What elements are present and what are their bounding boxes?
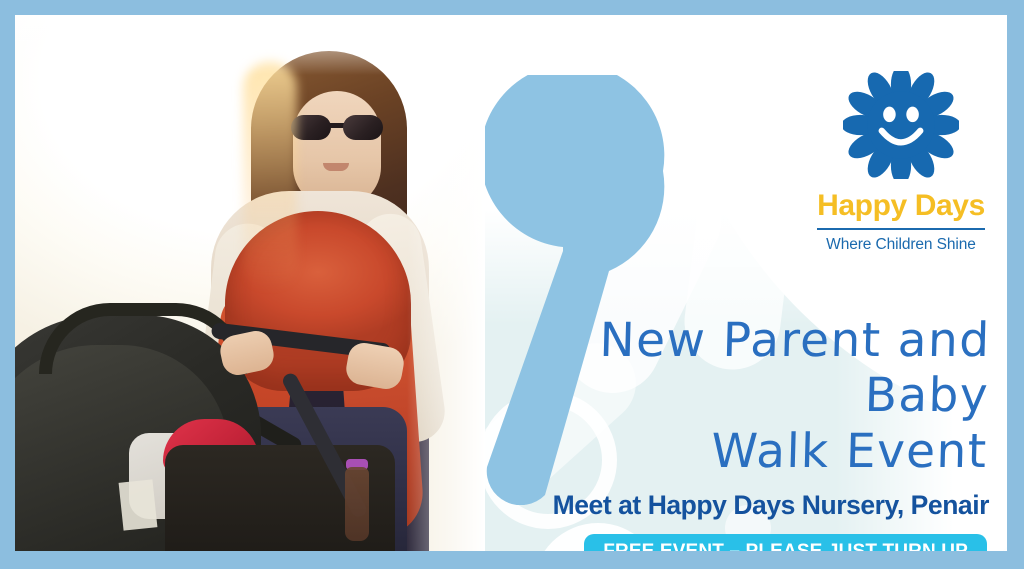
free-event-badge: FREE EVENT – PLEASE JUST TURN UP <box>584 534 987 552</box>
event-text-block: New Parent and Baby Walk Event Meet at H… <box>485 313 999 551</box>
photo-hair-highlight <box>243 61 297 291</box>
event-flyer: Happy Days Where Children Shine New Pare… <box>0 0 1024 569</box>
headline-line-1: New Parent and Baby <box>484 313 991 424</box>
happy-days-logo: Happy Days Where Children Shine <box>808 71 994 253</box>
event-photo <box>15 15 485 551</box>
headline-line-2: Walk Event <box>483 424 988 479</box>
logo-tagline: Where Children Shine <box>808 237 994 253</box>
flyer-canvas: Happy Days Where Children Shine New Pare… <box>15 15 1007 551</box>
logo-divider <box>817 228 985 230</box>
photo-water-bottle <box>345 467 369 541</box>
photo-right-fade <box>407 15 485 551</box>
event-headline: New Parent and Baby Walk Event <box>483 313 1001 479</box>
photo-lens-left <box>291 115 331 140</box>
photo-label-tag <box>119 479 158 530</box>
photo-lens-right <box>343 115 383 140</box>
photo-mouth <box>323 163 349 171</box>
photo-face <box>293 91 381 207</box>
photo-sunglasses <box>291 115 383 141</box>
badge-row: FREE EVENT – PLEASE JUST TURN UP <box>485 534 999 552</box>
happy-days-sun-icon <box>843 71 959 179</box>
logo-wordmark: Happy Days <box>808 191 994 221</box>
event-subtitle: Meet at Happy Days Nursery, Penair <box>485 491 999 520</box>
